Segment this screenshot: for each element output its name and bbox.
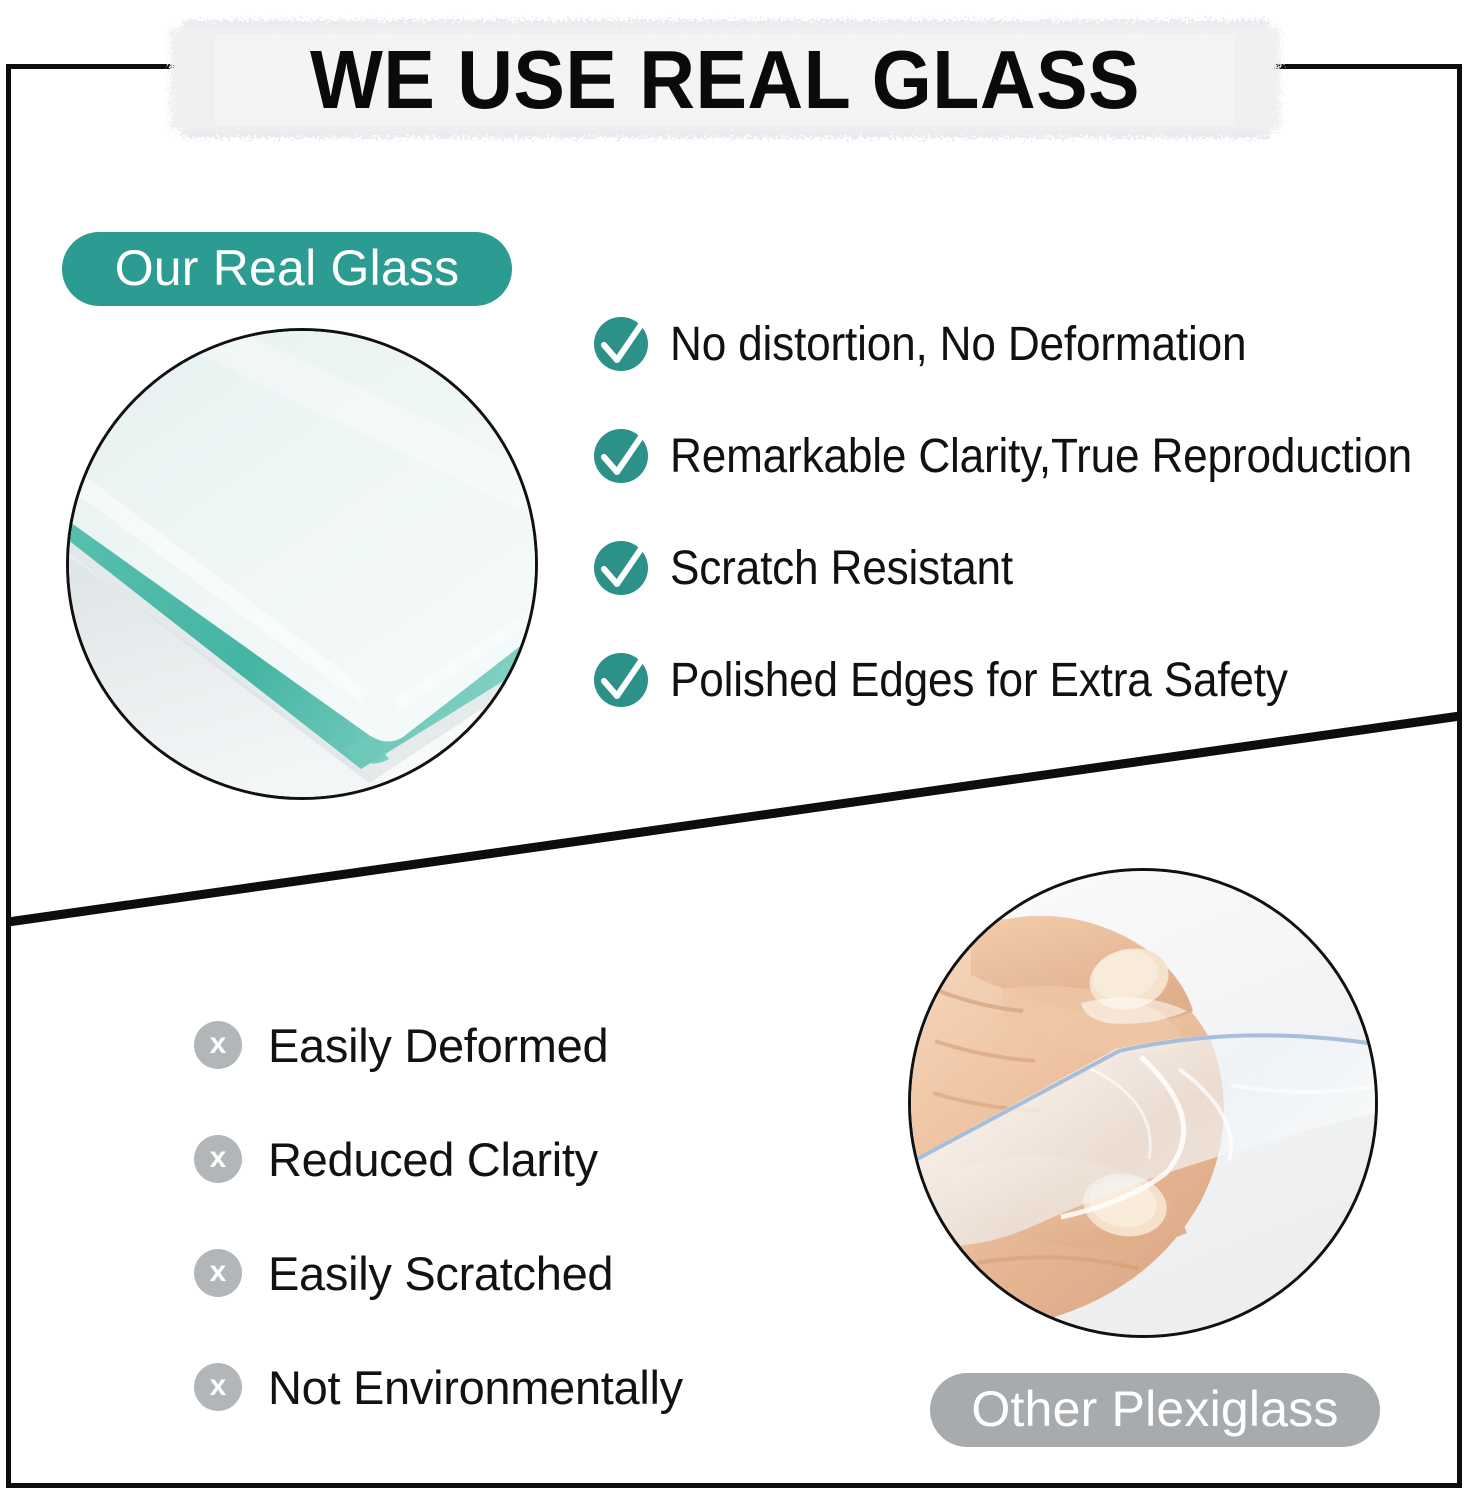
page-title: WE USE REAL GLASS bbox=[200, 6, 1251, 154]
x-circle-icon: x bbox=[194, 1363, 242, 1411]
cons-drawback-list: x Easily Deformed x Reduced Clarity x Ea… bbox=[194, 988, 834, 1444]
list-item: Scratch Resistant bbox=[592, 512, 1462, 624]
list-item: x Reduced Clarity bbox=[194, 1102, 834, 1216]
list-item-label: Reduced Clarity bbox=[268, 1132, 598, 1187]
x-circle-icon: x bbox=[194, 1021, 242, 1069]
list-item-label: Easily Scratched bbox=[268, 1246, 613, 1301]
list-item: No distortion, No Deformation bbox=[592, 288, 1462, 400]
list-item-label: Polished Edges for Extra Safety bbox=[670, 653, 1288, 708]
list-item-label: Easily Deformed bbox=[268, 1018, 608, 1073]
real-glass-corner-photo bbox=[66, 328, 538, 800]
check-circle-icon bbox=[592, 315, 650, 373]
list-item-label: Not Environmentally bbox=[268, 1360, 683, 1415]
check-circle-icon bbox=[592, 427, 650, 485]
x-circle-icon: x bbox=[194, 1135, 242, 1183]
plexiglass-bending-photo bbox=[908, 868, 1378, 1338]
list-item-label: No distortion, No Deformation bbox=[670, 317, 1246, 372]
list-item-label: Remarkable Clarity,True Reproduction bbox=[670, 429, 1412, 484]
list-item: Remarkable Clarity,True Reproduction bbox=[592, 400, 1462, 512]
other-plexiglass-badge: Other Plexiglass bbox=[930, 1373, 1380, 1447]
check-circle-icon bbox=[592, 651, 650, 709]
list-item-label: Scratch Resistant bbox=[670, 541, 1013, 596]
check-circle-icon bbox=[592, 539, 650, 597]
list-item: Polished Edges for Extra Safety bbox=[592, 624, 1462, 736]
list-item: x Easily Scratched bbox=[194, 1216, 834, 1330]
pros-feature-list: No distortion, No Deformation Remarkable… bbox=[592, 288, 1462, 736]
our-real-glass-badge: Our Real Glass bbox=[62, 232, 512, 306]
list-item: x Not Environmentally bbox=[194, 1330, 834, 1444]
x-circle-icon: x bbox=[194, 1249, 242, 1297]
list-item: x Easily Deformed bbox=[194, 988, 834, 1102]
